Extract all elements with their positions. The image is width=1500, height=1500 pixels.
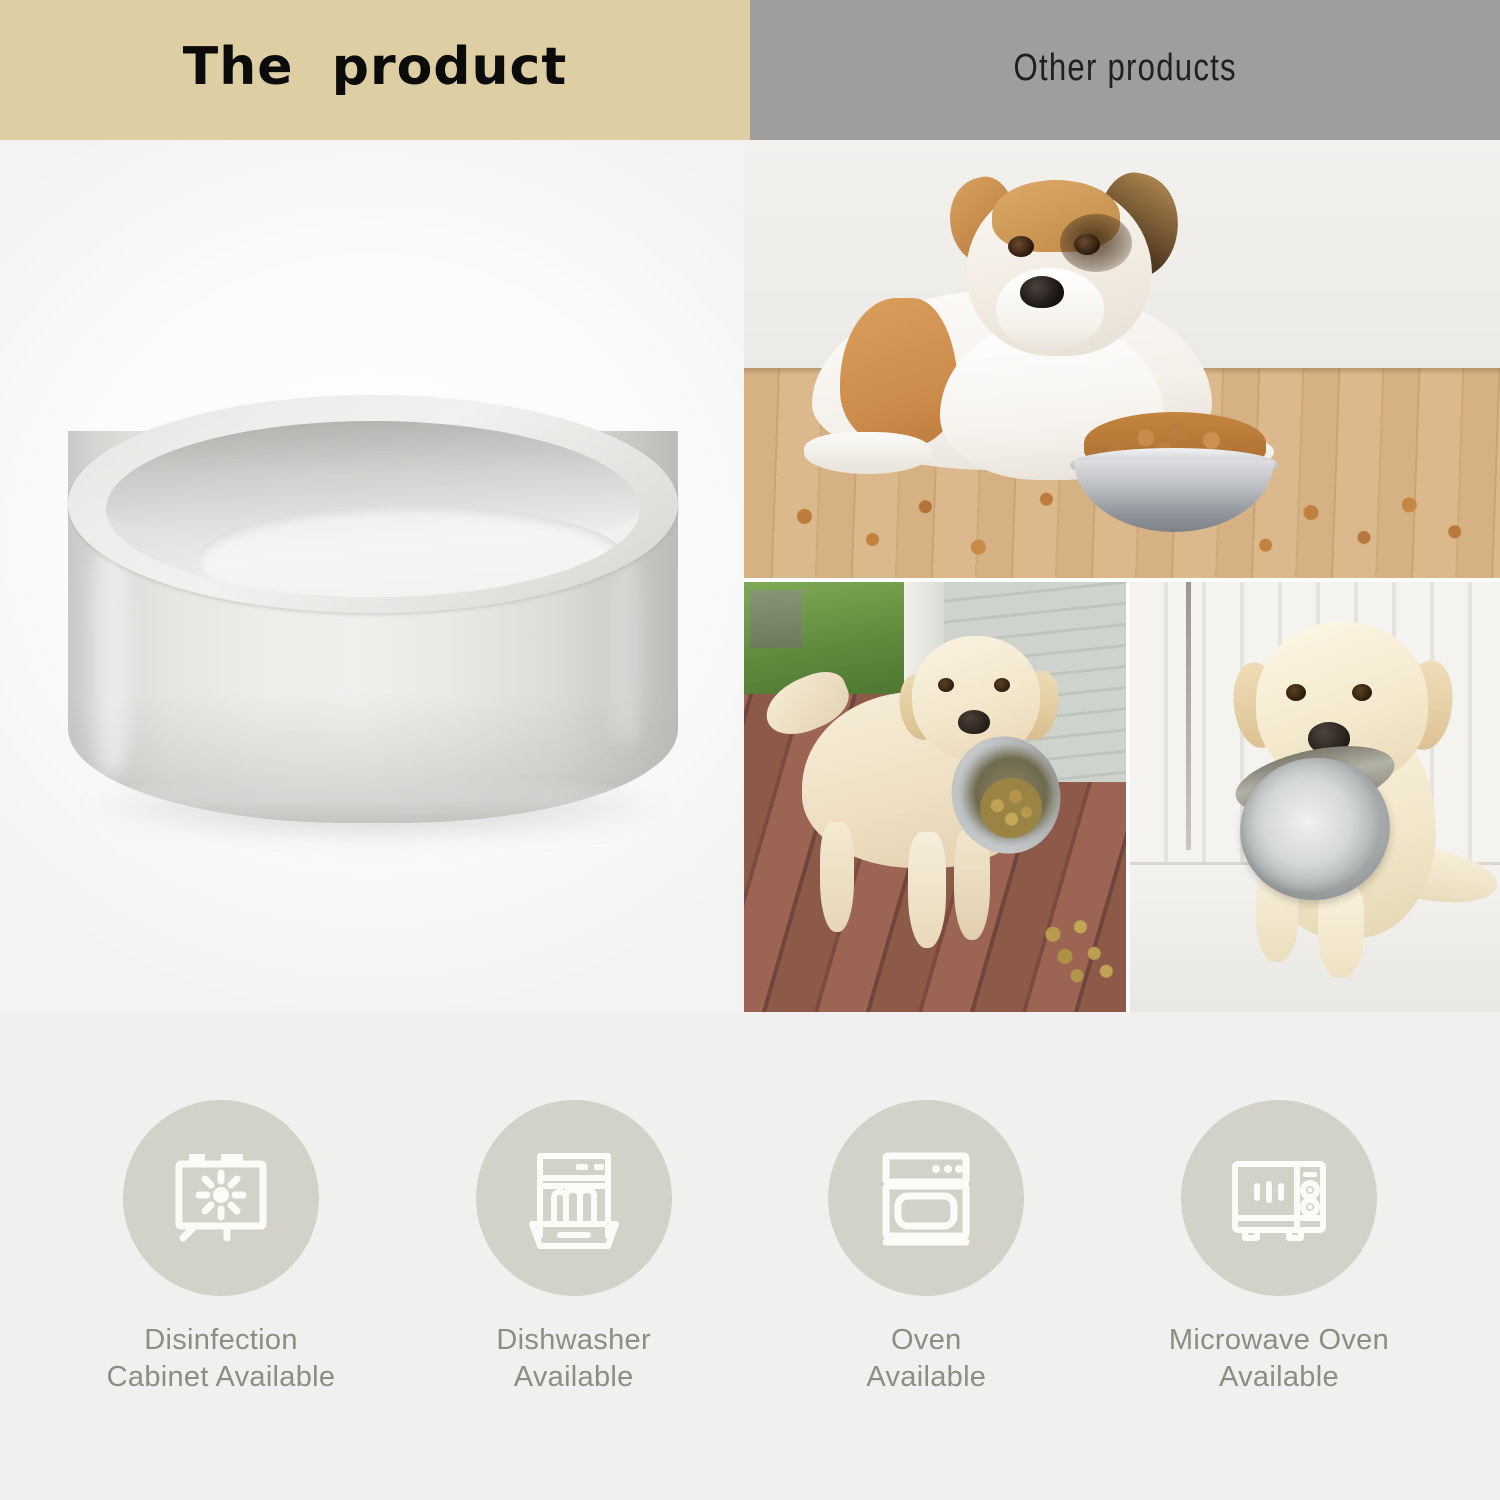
dishwasher-icon: [518, 1142, 630, 1254]
feature-label: Disinfection Cabinet Available: [107, 1322, 336, 1396]
terrier-right-eye: [1074, 234, 1100, 255]
door-edge: [1186, 582, 1191, 850]
bowl-inner-cavity: [106, 421, 640, 597]
oven-icon: [870, 1142, 982, 1254]
retriever-front-left-leg: [820, 822, 854, 932]
retriever-front-right-leg: [908, 832, 946, 948]
terrier-left-eye: [1008, 236, 1034, 257]
retriever-right-eye: [994, 678, 1010, 692]
feature-icon-circle: [123, 1100, 319, 1296]
header-row: The product Other products: [0, 0, 1500, 140]
the-product-title: The product: [183, 37, 567, 97]
terrier-nose: [1020, 276, 1064, 308]
retriever-left-eye: [938, 678, 954, 692]
feature-label: Oven Available: [866, 1322, 986, 1396]
feature-badges-panel: Disinfection Cabinet Available Dishwashe…: [0, 1012, 1500, 1500]
the-product-header: The product: [0, 0, 750, 140]
terrier-left-leg: [804, 432, 932, 474]
other-products-header: Other products: [750, 0, 1500, 140]
retriever-puppy-carrying-bowl-photo: [744, 582, 1126, 1012]
bowl-base-highlight: [76, 775, 670, 823]
retriever-nose: [958, 710, 990, 734]
disinfection-cabinet-icon: [165, 1142, 277, 1254]
bowl-left-highlight: [82, 545, 140, 775]
feature-oven: Oven Available: [761, 1100, 1091, 1396]
microwave-oven-icon: [1223, 1142, 1335, 1254]
labrador-right-eye: [1352, 684, 1372, 701]
other-products-photo-grid: [744, 140, 1500, 1012]
spilled-kibble: [1034, 912, 1120, 986]
bowl-inner-floor: [198, 505, 626, 597]
product-photo-pane: [0, 140, 744, 1012]
feature-dishwasher: Dishwasher Available: [409, 1100, 739, 1396]
feature-label: Microwave Oven Available: [1169, 1322, 1389, 1396]
feature-microwave-oven: Microwave Oven Available: [1114, 1100, 1444, 1396]
product-listing-image: The product Other products: [0, 0, 1500, 1500]
bowl-right-highlight: [604, 555, 648, 745]
ceramic-bowl-image: [68, 395, 678, 865]
bowl-rim: [68, 395, 678, 613]
feature-icon-circle: [476, 1100, 672, 1296]
feature-icon-circle: [828, 1100, 1024, 1296]
feature-label: Dishwasher Available: [496, 1322, 651, 1396]
terrier-with-kibble-bowl-photo: [744, 140, 1500, 578]
labrador-left-eye: [1286, 684, 1306, 701]
labrador-puppy-carrying-bowl-photo: [1130, 582, 1500, 1012]
other-products-title: Other products: [1013, 47, 1236, 90]
feature-icon-circle: [1181, 1100, 1377, 1296]
feature-disinfection-cabinet: Disinfection Cabinet Available: [56, 1100, 386, 1396]
